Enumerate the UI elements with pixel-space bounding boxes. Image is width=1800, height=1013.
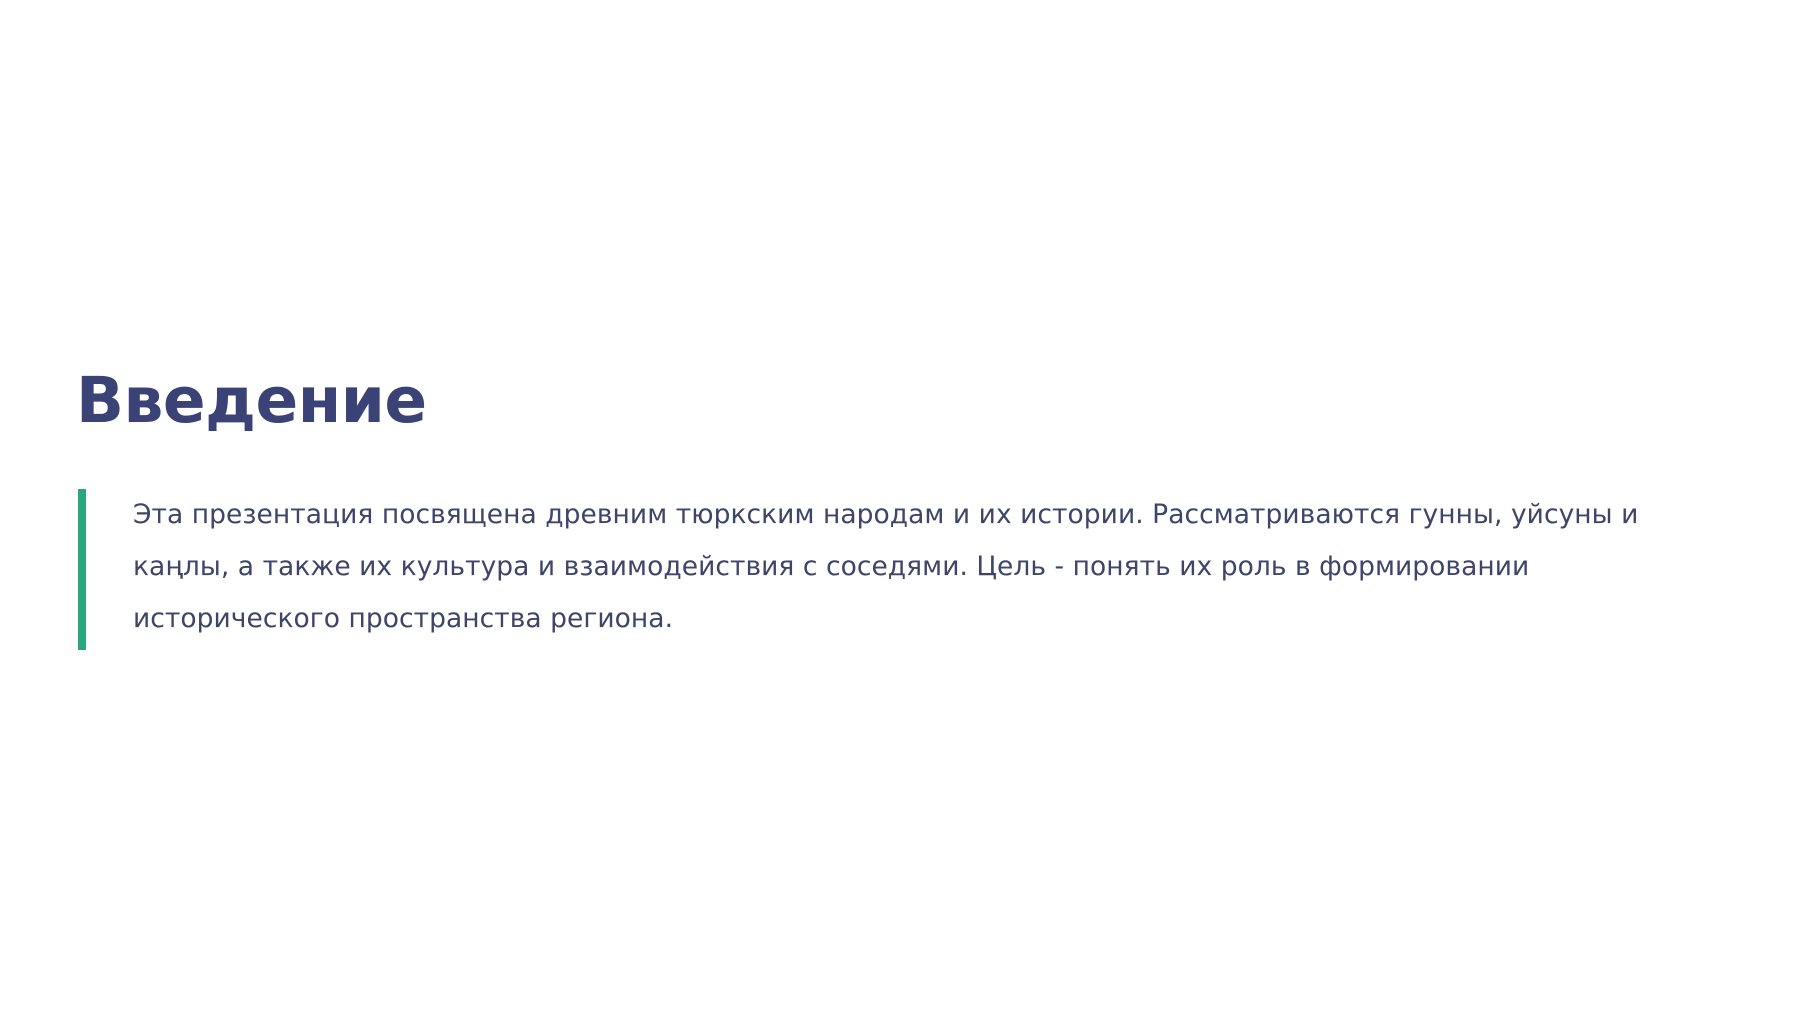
body-paragraph: Эта презентация посвящена древним тюркск…	[86, 489, 1698, 650]
presentation-slide: Введение Эта презентация посвящена древн…	[0, 0, 1800, 1013]
page-title: Введение	[76, 368, 427, 435]
body-callout: Эта презентация посвящена древним тюркск…	[78, 489, 1698, 650]
accent-bar	[78, 489, 86, 650]
